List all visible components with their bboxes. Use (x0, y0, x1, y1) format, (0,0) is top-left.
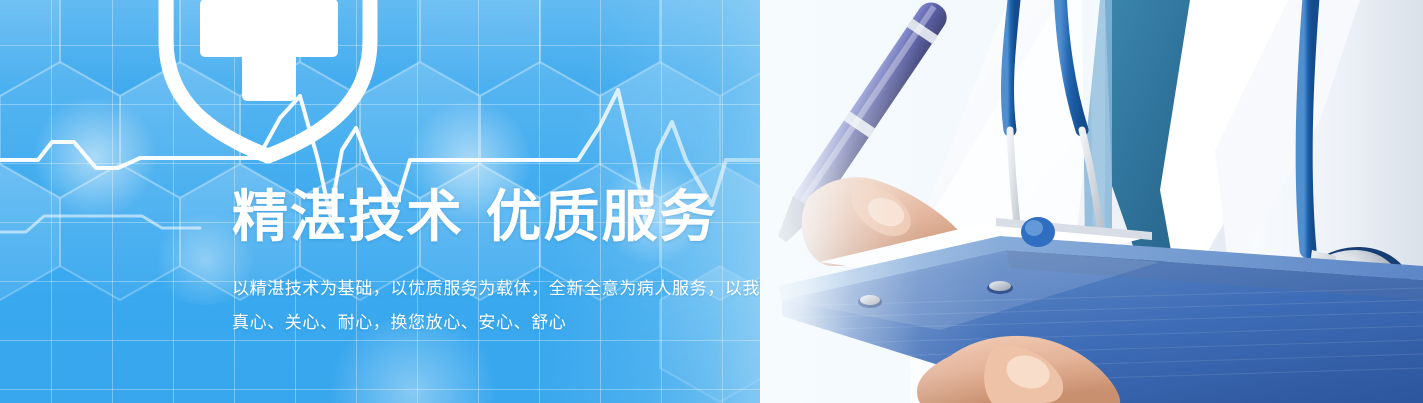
page-title: 精湛技术 优质服务 (232, 186, 852, 250)
shield-icon (166, 0, 370, 156)
banner-copy: 精湛技术 优质服务 以精湛技术为基础，以优质服务为载体，全新全意为病人服务，以我… (232, 186, 852, 340)
photo-blend-overlay (760, 0, 1423, 403)
subtitle-block: 以精湛技术为基础，以优质服务为载体，全新全意为病人服务，以我 真心、关心、耐心，… (232, 272, 852, 340)
subtitle-line-2: 真心、关心、耐心，换您放心、安心、舒心 (232, 306, 852, 340)
medical-hero-banner: 精湛技术 优质服务 以精湛技术为基础，以优质服务为载体，全新全意为病人服务，以我… (0, 0, 1423, 403)
subtitle-line-1: 以精湛技术为基础，以优质服务为载体，全新全意为病人服务，以我 (232, 272, 852, 306)
ekg-line-secondary (0, 216, 200, 232)
doctor-photo (760, 0, 1423, 403)
